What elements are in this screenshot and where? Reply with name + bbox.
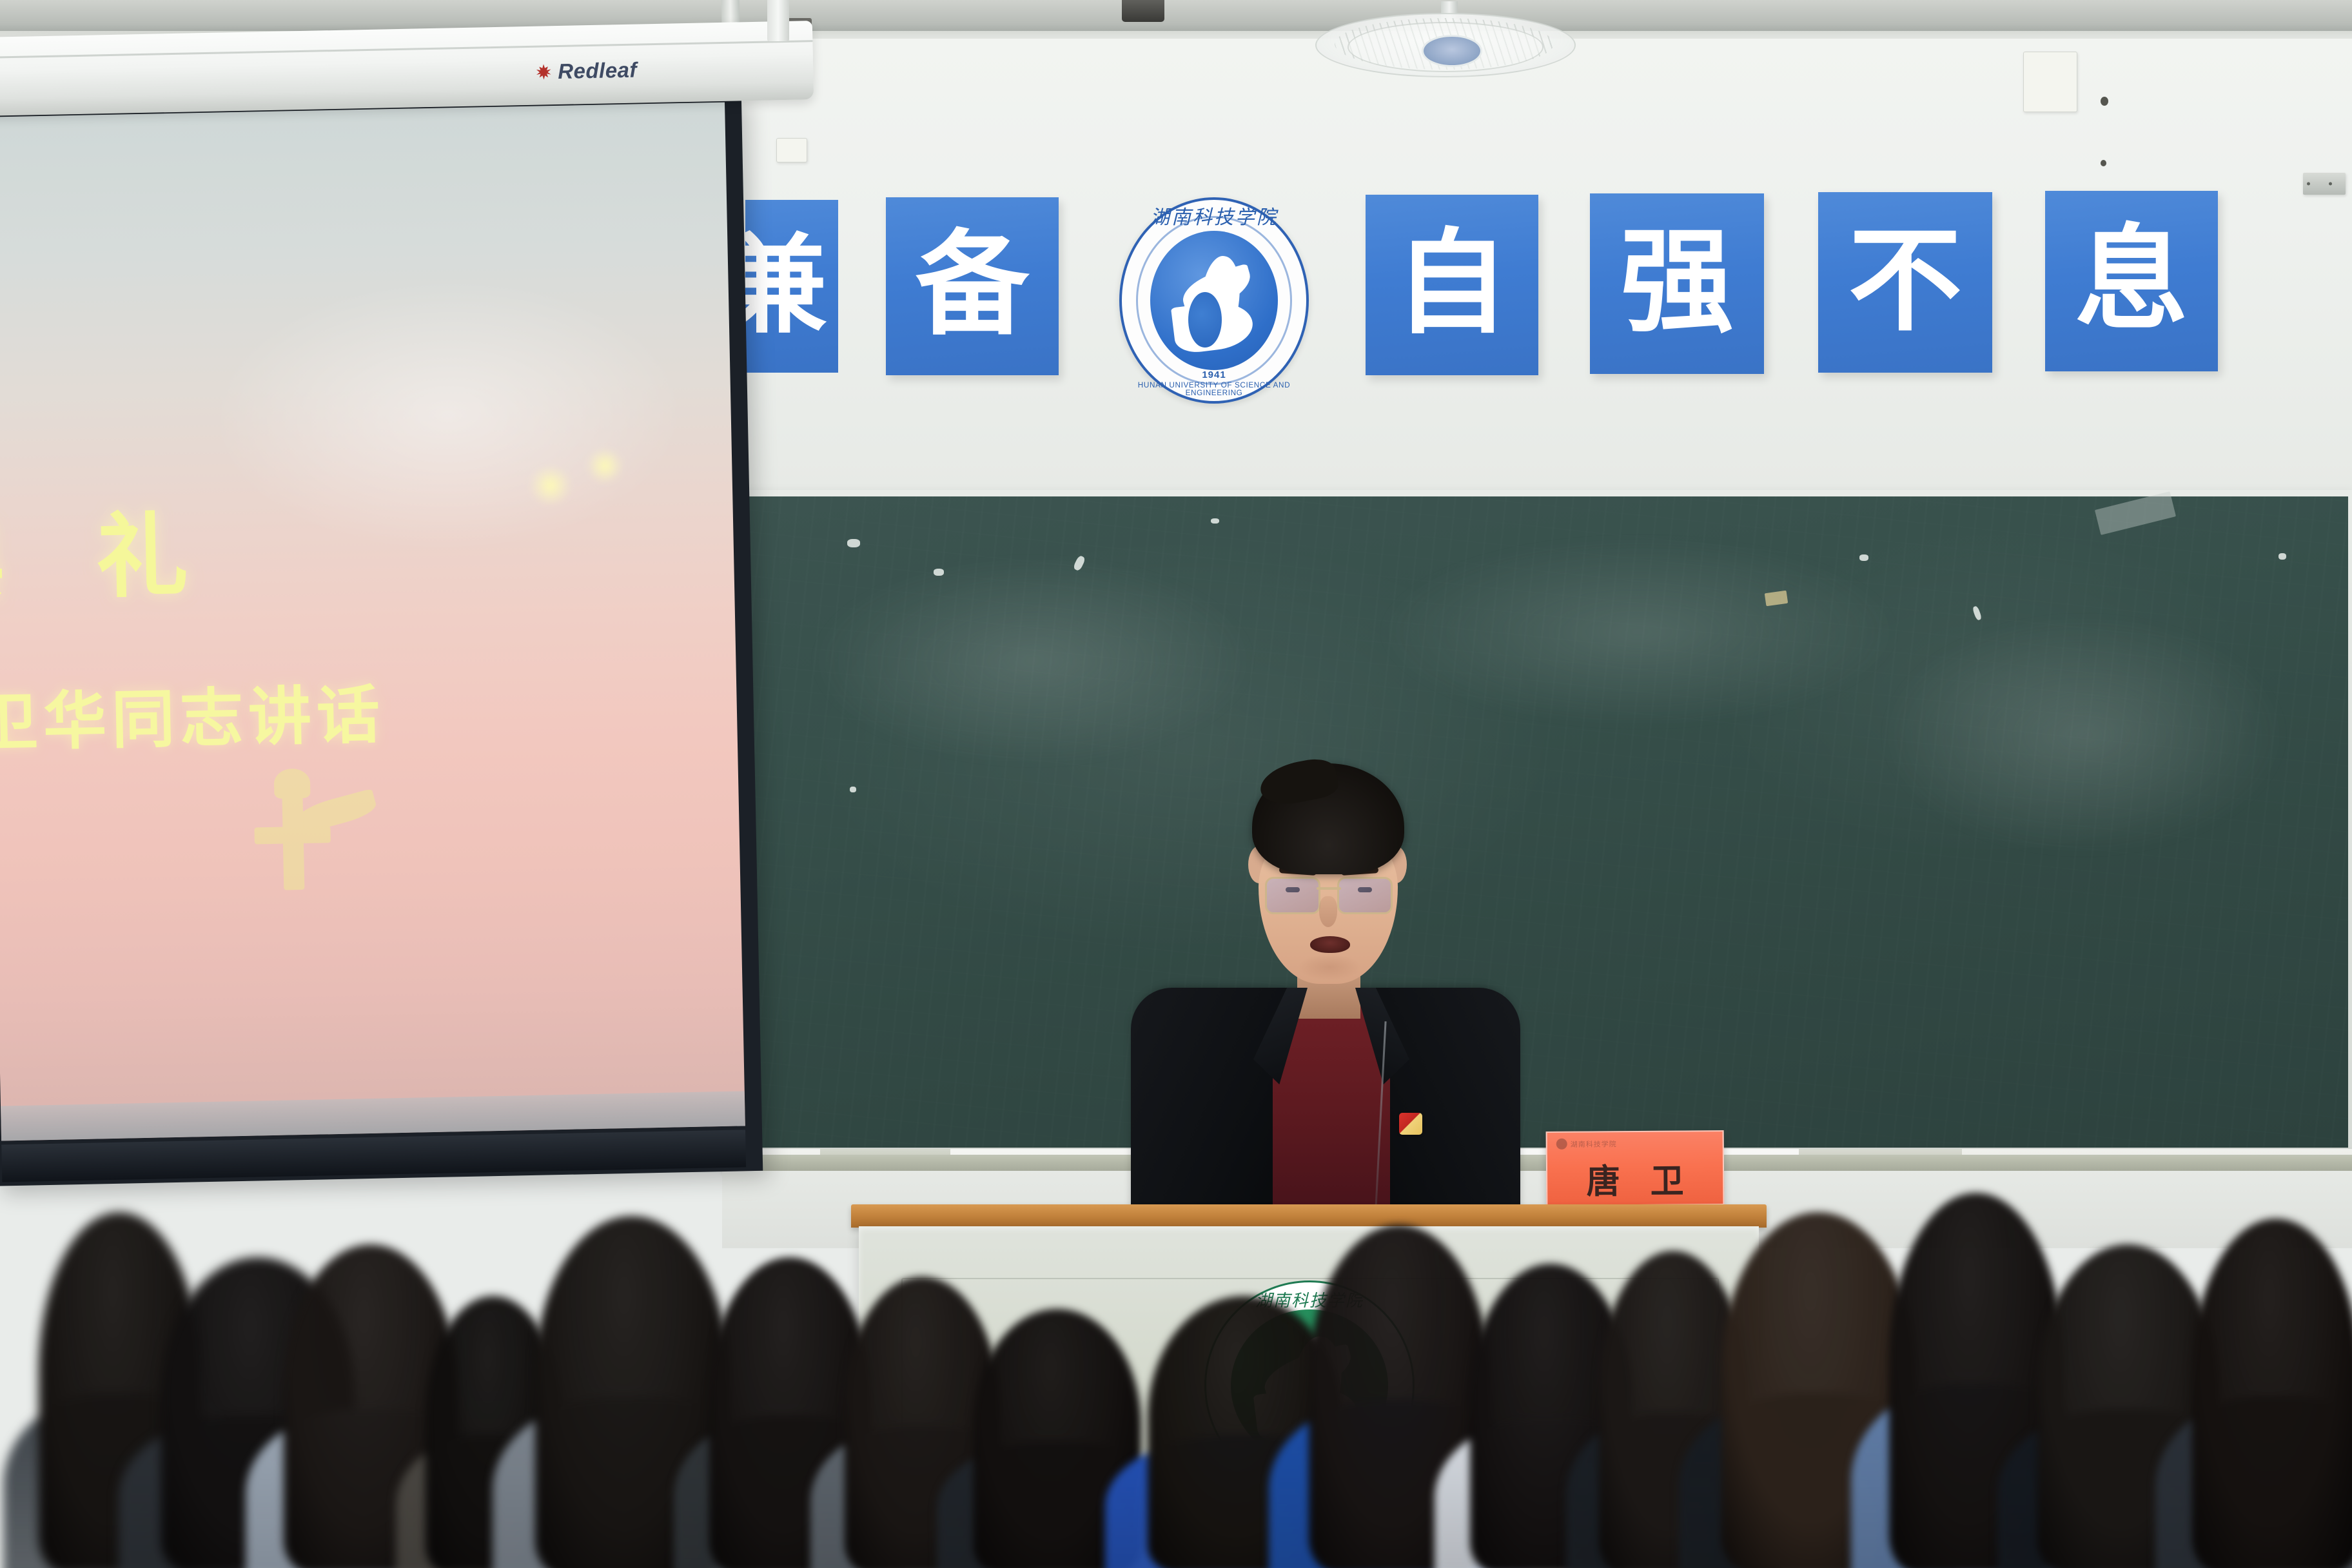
outlet-plate-right[interactable]: [2023, 52, 2077, 112]
emblem-english-name: HUNAN UNIVERSITY OF SCIENCE AND ENGINEER…: [1117, 382, 1311, 397]
podium-top-edge: [851, 1204, 1767, 1228]
ceiling-hook-icon: [1122, 0, 1164, 22]
projector-brand-label: Redleaf: [558, 58, 637, 84]
chalk-fleck: [2278, 553, 2286, 560]
slogan-char: 自: [1395, 228, 1509, 342]
projector-brand: Redleaf: [536, 58, 637, 84]
slogan-panel-2: 自: [1366, 195, 1538, 375]
nameplate: 湖南科技学院 唐 卫 华: [1546, 1130, 1725, 1206]
audience-member: [2192, 1219, 2352, 1568]
chalk-fleck: [1859, 554, 1868, 561]
mounting-bracket: [2303, 173, 2346, 195]
speaker-person: [1119, 761, 1532, 1212]
university-emblem: 湖南科技学院 1941 HUNAN UNIVERSITY OF SCIENCE …: [1119, 197, 1309, 404]
lens-left: [1265, 877, 1320, 914]
party-emblem-lapel-pin-icon: [1399, 1113, 1422, 1135]
slide-decorative-emblem-icon: [251, 768, 332, 898]
slide-emblem-arm: [254, 826, 330, 844]
chalk-dust: [722, 1149, 2352, 1155]
chalk-tray: [722, 1149, 2352, 1171]
emblem-founded-year: 1941: [1119, 369, 1309, 380]
wall-screw-icon: [2101, 160, 2106, 166]
chalkboard: [730, 496, 2348, 1148]
nameplate-logo: 湖南科技学院: [1556, 1138, 1617, 1150]
phoenix-bird-icon: [1188, 292, 1221, 348]
maple-leaf-icon: [536, 64, 551, 79]
fan-hub: [1422, 35, 1482, 67]
slogan-panel-5: 息: [2045, 191, 2218, 371]
glasses-bridge: [1317, 887, 1341, 890]
slogan-panel-1: 备: [886, 197, 1059, 375]
audience-head: [2192, 1219, 2352, 1568]
projection-screen-frame: 典 礼 记唐卫华同志讲话: [0, 94, 763, 1186]
outlet-plate-left[interactable]: [776, 138, 807, 162]
nose: [1319, 896, 1337, 927]
slogan-panel-3: 强: [1590, 193, 1764, 374]
chalk-smudge: [807, 554, 1259, 767]
slogan-char: 强: [1620, 227, 1734, 340]
projector-hotspot: [527, 466, 574, 504]
nameplate-org-label: 湖南科技学院: [1571, 1139, 1617, 1150]
screen-case-mount: [767, 0, 789, 41]
chalk-fleck: [847, 539, 860, 547]
mouth: [1310, 936, 1350, 953]
emblem-chinese-name: 湖南科技学院: [1119, 201, 1309, 230]
emblem-disc: [1150, 231, 1278, 370]
slide-title: 典 礼: [0, 480, 222, 619]
case-seam: [0, 40, 812, 59]
classroom-ceremony-photo: 湖南科技学院 1941 HUNAN UNIVERSITY OF SCIENCE …: [0, 0, 2352, 1568]
slogan-char: 不: [1848, 226, 1962, 339]
chalk-fleck: [934, 569, 944, 576]
chin-shadow: [1298, 954, 1360, 980]
projector-hotspot: [585, 449, 625, 483]
chalk-smudge: [1375, 535, 1903, 729]
university-seal-icon: [1556, 1139, 1567, 1150]
projector-screen-case: Redleaf: [0, 21, 814, 116]
slide-subtitle: 记唐卫华同志讲话: [0, 663, 386, 766]
slogan-char: 息: [2075, 224, 2188, 338]
chalk-smudge: [1877, 612, 2290, 857]
chalk-fleck: [850, 787, 856, 792]
ceiling-fan-icon: [1309, 1, 1580, 85]
projection-screen-surface: 典 礼 记唐卫华同志讲话: [0, 103, 745, 1141]
lens-right: [1337, 877, 1393, 914]
wall-screw-icon: [2101, 97, 2108, 106]
slogan-panel-4: 不: [1818, 192, 1992, 373]
slogan-char: 备: [916, 230, 1029, 343]
chalk-fleck: [1211, 518, 1219, 524]
